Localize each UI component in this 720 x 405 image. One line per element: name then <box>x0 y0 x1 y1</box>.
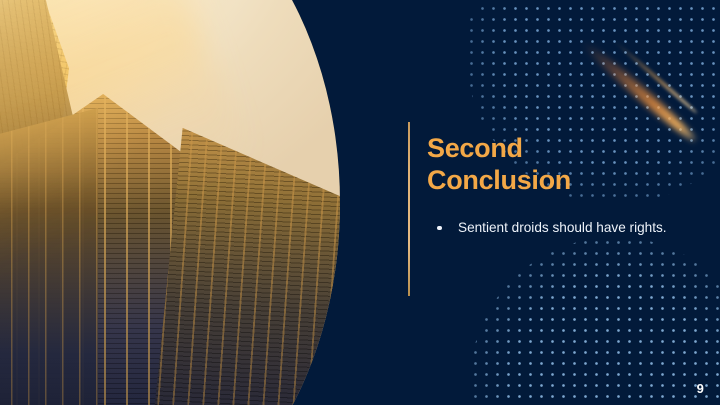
building-center-face <box>0 108 98 405</box>
accent-rule <box>408 122 410 296</box>
slide-title: Second Conclusion <box>427 133 677 197</box>
comet-core-icon <box>613 39 699 114</box>
page-number: 9 <box>697 381 704 396</box>
comet-streak-icon <box>578 37 699 144</box>
bullet-list: Sentient droids should have rights. <box>427 219 677 238</box>
slide-photo <box>0 0 340 405</box>
slide-content: Second Conclusion Sentient droids should… <box>427 133 677 237</box>
presentation-slide: Second Conclusion Sentient droids should… <box>0 0 720 405</box>
bullet-item: Sentient droids should have rights. <box>427 219 677 238</box>
skyscraper-photo-image <box>0 0 340 405</box>
dot-pattern-bottom-right-icon <box>470 237 720 405</box>
